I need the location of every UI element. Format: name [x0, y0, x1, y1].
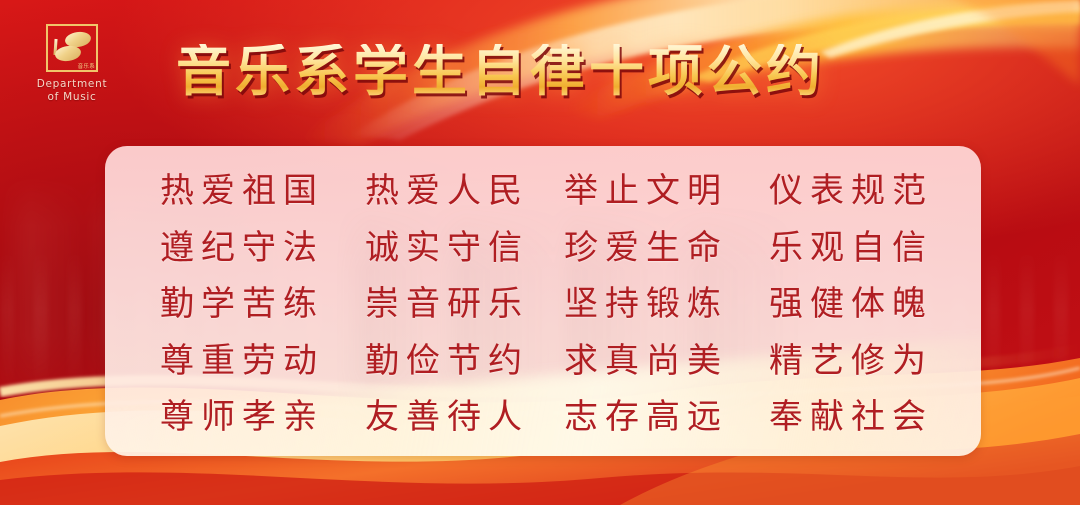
- pledge-list: 热爱祖国 热爱人民 举止文明 仪表规范 遵纪守法 诚实守信 珍爱生命 乐观自信: [105, 146, 981, 456]
- pledge-phrase: 诚实守信: [358, 231, 529, 265]
- pledge-phrase: 志存高远: [557, 400, 728, 434]
- poster-title: 音乐系学生自律十项公约: [176, 44, 825, 99]
- pledge-panel: 热爱祖国 热爱人民 举止文明 仪表规范 遵纪守法 诚实守信 珍爱生命 乐观自信: [105, 146, 981, 456]
- pledge-phrase: 仪表规范: [762, 174, 933, 208]
- pledge-row-left: 热爱祖国 热爱人民: [139, 174, 543, 208]
- note-head-lower-shape: [54, 44, 82, 62]
- logo-english-line-1: Department: [26, 78, 118, 91]
- logo-english-line-2: of Music: [26, 91, 118, 104]
- pledge-row-left: 尊重劳动 勤俭节约: [139, 344, 543, 378]
- pledge-phrase: 勤俭节约: [358, 344, 529, 378]
- pledge-row: 勤学苦练 崇音研乐 坚持锻炼 强健体魄: [139, 287, 947, 321]
- logo-english-name: Department of Music: [26, 78, 118, 104]
- pledge-phrase: 尊师孝亲: [153, 400, 324, 434]
- pledge-row: 遵纪守法 诚实守信 珍爱生命 乐观自信: [139, 231, 947, 265]
- pledge-phrase: 遵纪守法: [153, 231, 324, 265]
- pledge-phrase: 热爱祖国: [153, 174, 324, 208]
- music-note-logo-icon: 音乐系: [46, 24, 98, 72]
- pledge-row-right: 坚持锻炼 强健体魄: [543, 287, 947, 321]
- pledge-phrase: 乐观自信: [762, 231, 933, 265]
- pledge-phrase: 珍爱生命: [557, 231, 728, 265]
- pledge-phrase: 热爱人民: [358, 174, 529, 208]
- pledge-row-right: 珍爱生命 乐观自信: [543, 231, 947, 265]
- pledge-row-right: 志存高远 奉献社会: [543, 400, 947, 434]
- department-logo: 音乐系 Department of Music: [26, 24, 118, 110]
- pledge-phrase: 精艺修为: [762, 344, 933, 378]
- pledge-phrase: 强健体魄: [762, 287, 933, 321]
- pledge-phrase: 坚持锻炼: [557, 287, 728, 321]
- pledge-phrase: 举止文明: [557, 174, 728, 208]
- pledge-phrase: 求真尚美: [557, 344, 728, 378]
- pledge-phrase: 勤学苦练: [153, 287, 324, 321]
- pledge-row-left: 尊师孝亲 友善待人: [139, 400, 543, 434]
- pledge-row-left: 遵纪守法 诚实守信: [139, 231, 543, 265]
- logo-chinese-label: 音乐系: [78, 65, 95, 71]
- pledge-row-left: 勤学苦练 崇音研乐: [139, 287, 543, 321]
- pledge-row-right: 举止文明 仪表规范: [543, 174, 947, 208]
- pledge-phrase: 奉献社会: [762, 400, 933, 434]
- pledge-phrase: 友善待人: [358, 400, 529, 434]
- pledge-phrase: 尊重劳动: [153, 344, 324, 378]
- pledge-row: 尊师孝亲 友善待人 志存高远 奉献社会: [139, 400, 947, 434]
- pledge-row: 热爱祖国 热爱人民 举止文明 仪表规范: [139, 174, 947, 208]
- poster-canvas: 音乐系 Department of Music 音乐系学生自律十项公约 热爱祖国…: [0, 0, 1080, 505]
- pledge-row-right: 求真尚美 精艺修为: [543, 344, 947, 378]
- pledge-phrase: 崇音研乐: [358, 287, 529, 321]
- pledge-row: 尊重劳动 勤俭节约 求真尚美 精艺修为: [139, 344, 947, 378]
